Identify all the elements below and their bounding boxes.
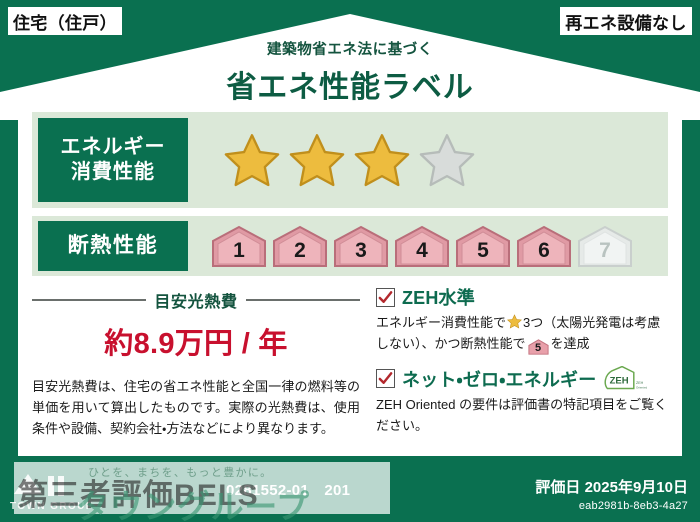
svg-text:Oriented: Oriented xyxy=(636,385,647,389)
insulation-level-6: 6 xyxy=(515,224,573,268)
rule-right xyxy=(246,299,360,301)
insulation-performance-label-tag: 断熱性能 xyxy=(38,221,188,271)
energy-label-line1: エネルギー xyxy=(61,135,166,160)
house-badge-icon: 5 xyxy=(528,339,549,355)
net-zero-energy-block: ネット・ゼロ・エネルギー ZEH ZEH Oriented ZEH Orient… xyxy=(376,366,668,437)
insulation-level-scale: 1234567 xyxy=(210,224,634,268)
insulation-performance-row: 断熱性能 1234567 xyxy=(32,216,668,276)
insulation-level-number: 6 xyxy=(538,239,550,268)
badge-renewable-equipment: 再エネ設備なし xyxy=(558,5,694,37)
insulation-level-number: 5 xyxy=(477,239,489,268)
check-icon xyxy=(376,369,395,388)
net-zero-title-row: ネット・ゼロ・エネルギー ZEH ZEH Oriented xyxy=(376,366,668,392)
evaluation-id: eab2981b-8eb3-4a27 xyxy=(535,500,688,512)
cost-heading: 目安光熱費 xyxy=(32,288,360,312)
insulation-level-number: 3 xyxy=(355,239,367,268)
insulation-level-number: 7 xyxy=(599,239,611,268)
net-zero-description: ZEH Oriented の要件は評価書の特記項目をご覧ください。 xyxy=(376,395,668,437)
star-icon-filled xyxy=(289,132,345,188)
estimated-utility-cost: 約8.9万円 / 年 xyxy=(32,320,360,362)
label-body-panel: エネルギー 消費性能 断熱性能 1234567 目安光熱費 約8.9万円 / 年… xyxy=(18,104,682,456)
footer: TOWN GROUP 0281552-01 201 評価日 2025年9月10日… xyxy=(0,458,700,522)
badge-building-type: 住宅（住戸） xyxy=(6,5,124,37)
energy-performance-row: エネルギー 消費性能 xyxy=(32,112,668,208)
star-icon-filled xyxy=(354,132,410,188)
zeh-standard-title-row: ZEH水準 xyxy=(376,284,668,310)
insulation-level-4: 4 xyxy=(393,224,451,268)
zeh-standard-description: エネルギー消費性能で3つ（太陽光発電は考慮しない）、かつ断熱性能で5を達成 xyxy=(376,313,668,355)
detail-columns: 目安光熱費 約8.9万円 / 年 目安光熱費は、住宅の省エネ性能と全国一律の燃料… xyxy=(32,284,668,449)
check-icon xyxy=(376,288,395,307)
zeh-desc-part-a: エネルギー消費性能で xyxy=(376,315,506,330)
star-icon-filled xyxy=(224,132,280,188)
zeh-desc-part-c: を達成 xyxy=(551,336,590,351)
svg-text:ZEH: ZEH xyxy=(610,375,629,386)
town-group-wordmark: TOWN GROUP xyxy=(10,501,94,512)
cost-column: 目安光熱費 約8.9万円 / 年 目安光熱費は、住宅の省エネ性能と全国一律の燃料… xyxy=(32,284,370,449)
svg-text:ZEH: ZEH xyxy=(636,381,644,385)
star-rating xyxy=(224,132,475,188)
insulation-level-number: 2 xyxy=(294,239,306,268)
footer-evaluation-info: 評価日 2025年9月10日 eab2981b-8eb3-4a27 xyxy=(535,476,688,512)
star-icon xyxy=(507,314,522,329)
zeh-standard-block: ZEH水準 エネルギー消費性能で3つ（太陽光発電は考慮しない）、かつ断熱性能で5… xyxy=(376,284,668,355)
label-header: 建築物省エネ法に基づく 省エネ性能ラベル xyxy=(0,38,700,106)
cost-heading-text: 目安光熱費 xyxy=(154,288,237,312)
insulation-level-number: 1 xyxy=(233,239,245,268)
footer-code: 0281552-01 201 xyxy=(226,479,350,500)
zeh-house-logo: ZEH ZEH Oriented xyxy=(603,366,647,392)
energy-performance-label-tag: エネルギー 消費性能 xyxy=(38,118,188,202)
insulation-level-5: 5 xyxy=(454,224,512,268)
zeh-standard-title: ZEH水準 xyxy=(402,284,475,310)
insulation-level-3: 3 xyxy=(332,224,390,268)
energy-performance-label: 住宅（住戸） 再エネ設備なし 建築物省エネ法に基づく 省エネ性能ラベル エネルギ… xyxy=(0,0,700,522)
insulation-level-7: 7 xyxy=(576,224,634,268)
header-subtitle: 建築物省エネ法に基づく xyxy=(0,38,700,59)
zeh-column: ZEH水準 エネルギー消費性能で3つ（太陽光発電は考慮しない）、かつ断熱性能で5… xyxy=(370,284,668,449)
inline-house-level: 5 xyxy=(528,339,549,357)
insulation-level-1: 1 xyxy=(210,224,268,268)
insulation-level-2: 2 xyxy=(271,224,329,268)
evaluation-date: 評価日 2025年9月10日 xyxy=(535,476,688,497)
energy-label-line2: 消費性能 xyxy=(71,160,155,185)
rule-left xyxy=(32,299,146,301)
page-title: 省エネ性能ラベル xyxy=(0,62,700,106)
star-icon-empty xyxy=(419,132,475,188)
net-zero-title: ネット・ゼロ・エネルギー xyxy=(402,366,596,392)
insulation-level-number: 4 xyxy=(416,239,428,268)
cost-note: 目安光熱費は、住宅の省エネ性能と全国一律の燃料等の単価を用いて算出したものです。… xyxy=(32,376,360,439)
